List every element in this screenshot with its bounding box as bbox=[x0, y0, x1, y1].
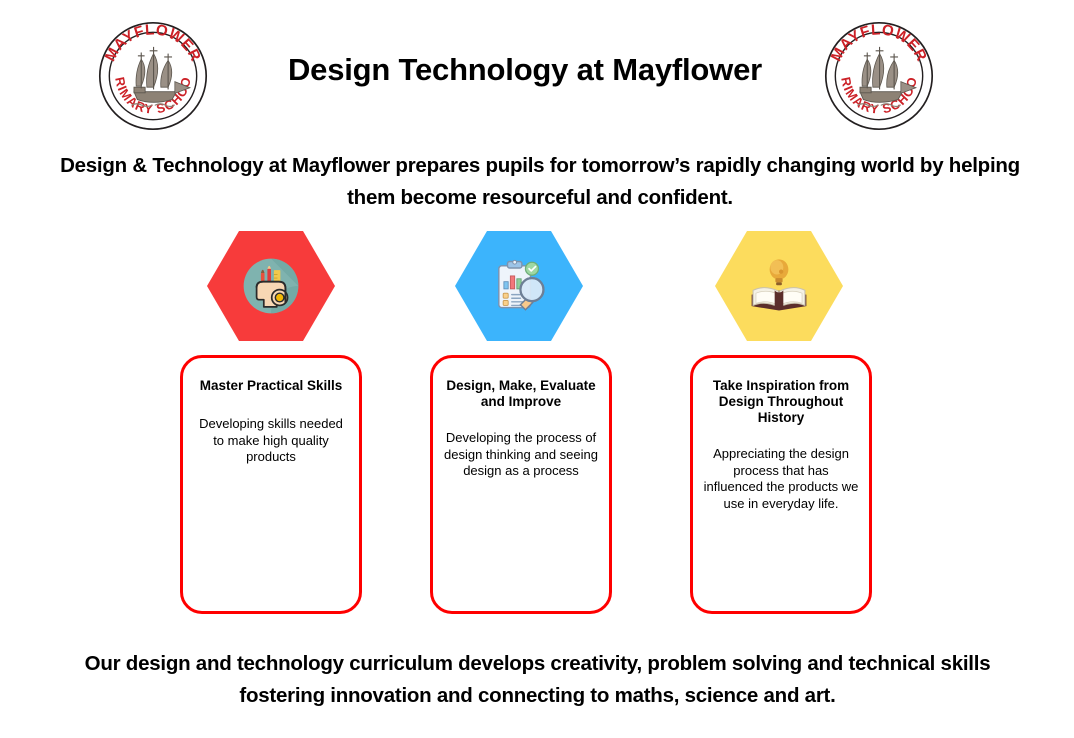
pillar-card-body: Appreciating the design process that has… bbox=[703, 446, 859, 512]
pillar-card-2: Design, Make, Evaluate and Improve Devel… bbox=[430, 355, 612, 614]
head-with-art-tools-icon bbox=[235, 250, 307, 322]
pillar-card-1: Master Practical Skills Developing skill… bbox=[180, 355, 362, 614]
pillar-hexagon-1 bbox=[207, 231, 335, 341]
pillar-card-3: Take Inspiration from Design Throughout … bbox=[690, 355, 872, 614]
intro-paragraph: Design & Technology at Mayflower prepare… bbox=[60, 150, 1020, 214]
open-book-lightbulb-icon bbox=[743, 250, 815, 322]
pillar-card-title: Take Inspiration from Design Throughout … bbox=[703, 378, 859, 426]
pillar-hexagon-2 bbox=[455, 231, 583, 341]
pillar-card-body: Developing the process of design thinkin… bbox=[443, 430, 599, 480]
page-header: MAYFLOWER PRIMARY SCHOOL bbox=[0, 0, 1074, 150]
page-title: Design Technology at Mayflower bbox=[200, 52, 850, 88]
pillar-card-body: Developing skills needed to make high qu… bbox=[193, 416, 349, 466]
mayflower-logo-right: MAYFLOWER PRIMARY SCHOOL bbox=[823, 20, 935, 132]
clipboard-chart-magnifier-icon bbox=[483, 250, 555, 322]
pillar-hexagon-3 bbox=[715, 231, 843, 341]
mayflower-logo-left: MAYFLOWER PRIMARY SCHOOL bbox=[97, 20, 209, 132]
pillar-card-title: Master Practical Skills bbox=[193, 378, 349, 394]
pillar-card-title: Design, Make, Evaluate and Improve bbox=[443, 378, 599, 410]
footer-paragraph: Our design and technology curriculum dev… bbox=[45, 648, 1030, 712]
